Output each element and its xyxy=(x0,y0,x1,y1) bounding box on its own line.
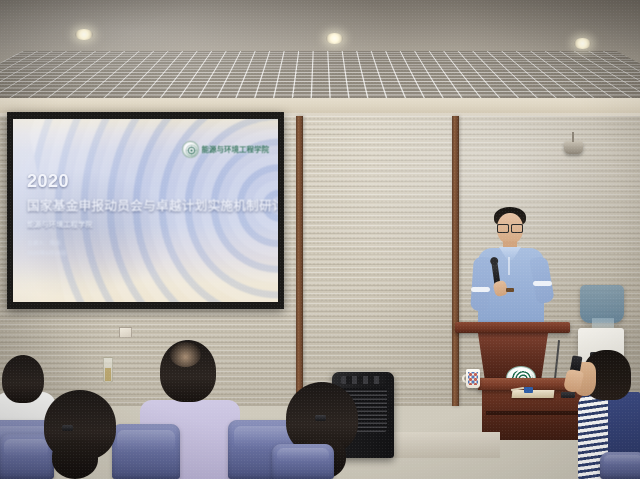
auditorium-seat-5[interactable] xyxy=(272,444,334,479)
projection-screen: 能源与环境工程学院 2020 国家基金申报动员会与卓越计划实施机制研讨 能源与环… xyxy=(7,112,284,309)
slide-meta-line-2: 2020年6月25日 xyxy=(27,249,268,259)
presenter-left-cuff xyxy=(471,287,490,292)
slide-meta-line-1: 主讲人：院长 xyxy=(27,239,268,249)
audience-member-4-hair-clip xyxy=(315,415,326,421)
wristwatch-icon xyxy=(506,288,514,292)
slide-subtitle: 能源与环境工程学院 xyxy=(27,220,268,230)
audience-member-1-hair xyxy=(2,355,44,403)
glasses-icon xyxy=(497,224,523,231)
desk-shelf-shadow xyxy=(486,411,590,415)
presenter-right-cuff xyxy=(533,281,552,286)
slide-year: 2020 xyxy=(27,171,268,192)
ceiling-downlight-1 xyxy=(75,29,93,40)
auditorium-seat-6[interactable] xyxy=(600,452,640,479)
audience-member-2-hair-clip xyxy=(62,425,73,431)
audience-member-2-ponytail xyxy=(52,440,98,479)
wall-wood-trim-left xyxy=(296,116,303,406)
ceiling-downlight-3 xyxy=(574,38,591,49)
ceiling-downlight-2 xyxy=(326,33,343,44)
swirl-emblem-icon xyxy=(182,141,199,158)
grid-ceiling xyxy=(0,0,640,104)
notebook-blue-marker xyxy=(524,387,533,393)
slide-text-block: 2020 国家基金申报动员会与卓越计划实施机制研讨 能源与环境工程学院 主讲人：… xyxy=(27,171,268,260)
audience-member-1-head xyxy=(2,355,44,403)
presenter-left-arm xyxy=(470,256,492,311)
lectern-top xyxy=(455,322,570,333)
slide-logo: 能源与环境工程学院 xyxy=(182,141,270,158)
presenter-placket xyxy=(508,257,510,275)
phone-icon xyxy=(561,392,575,398)
slide-logo-text: 能源与环境工程学院 xyxy=(202,144,270,155)
wall-switch-plate[interactable] xyxy=(119,327,132,338)
audience-member-3-head xyxy=(160,340,216,402)
screen-surface: 能源与环境工程学院 2020 国家基金申报动员会与卓越计划实施机制研讨 能源与环… xyxy=(13,119,278,302)
wall-speaker-icon xyxy=(564,141,583,154)
presenter xyxy=(465,205,557,335)
auditorium-seat-2[interactable] xyxy=(112,424,180,479)
slide-title: 国家基金申报动员会与卓越计划实施机制研讨 xyxy=(27,195,268,214)
notebook-icon xyxy=(512,390,555,398)
drinking-glass xyxy=(103,357,113,383)
ceiling-shading xyxy=(0,0,640,104)
slide-meta: 主讲人：院长 2020年6月25日 xyxy=(27,239,268,260)
lecture-hall-photo: 能源与环境工程学院 2020 国家基金申报动员会与卓越计划实施机制研讨 能源与环… xyxy=(0,0,640,479)
mug-icon xyxy=(466,369,480,388)
